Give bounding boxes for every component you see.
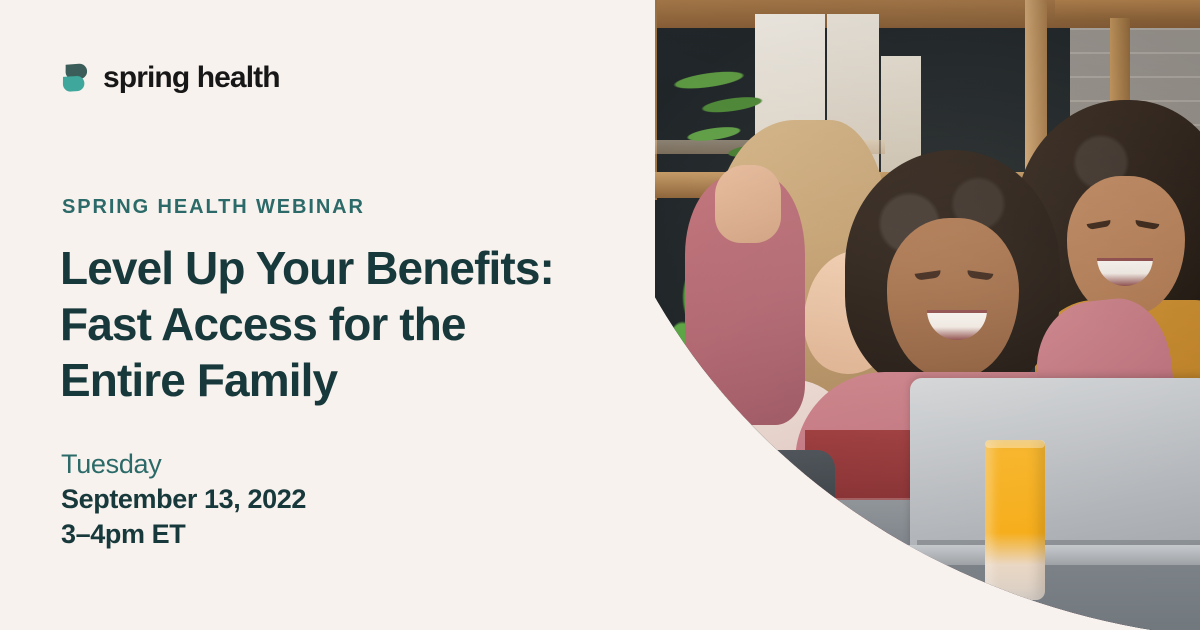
text-column: spring health SPRING HEALTH WEBINAR Leve… xyxy=(0,0,660,630)
person-left-pants xyxy=(655,540,885,630)
event-weekday: Tuesday xyxy=(61,447,306,482)
hero-photo-circle-mask xyxy=(655,0,1200,630)
webinar-promo-card: spring health SPRING HEALTH WEBINAR Leve… xyxy=(0,0,1200,630)
headline-line-1: Level Up Your Benefits: xyxy=(60,240,630,296)
person-right-face xyxy=(1067,176,1185,316)
headline-line-3: Entire Family xyxy=(60,352,630,408)
orange-juice-glass-rim xyxy=(985,440,1045,448)
spring-health-leaf-mark-icon xyxy=(60,62,90,94)
smartphone xyxy=(714,537,876,584)
orange-juice-glass xyxy=(985,440,1045,600)
hero-photo xyxy=(655,0,1200,630)
event-time: 3–4pm ET xyxy=(61,517,306,552)
headline-line-2: Fast Access for the xyxy=(60,296,630,352)
spring-health-logo[interactable]: spring health xyxy=(60,62,280,94)
event-date: September 13, 2022 xyxy=(61,482,306,517)
event-datetime-block: Tuesday September 13, 2022 3–4pm ET xyxy=(61,447,306,552)
eyebrow-label: SPRING HEALTH WEBINAR xyxy=(62,196,365,219)
person-left-fist xyxy=(715,165,781,243)
hero-photo-region xyxy=(655,0,1200,630)
dark-bag xyxy=(695,450,835,550)
spring-health-wordmark: spring health xyxy=(103,63,280,93)
person-center-face xyxy=(887,218,1019,378)
laptop-screen xyxy=(910,378,1200,553)
page-title: Level Up Your Benefits: Fast Access for … xyxy=(60,240,630,408)
